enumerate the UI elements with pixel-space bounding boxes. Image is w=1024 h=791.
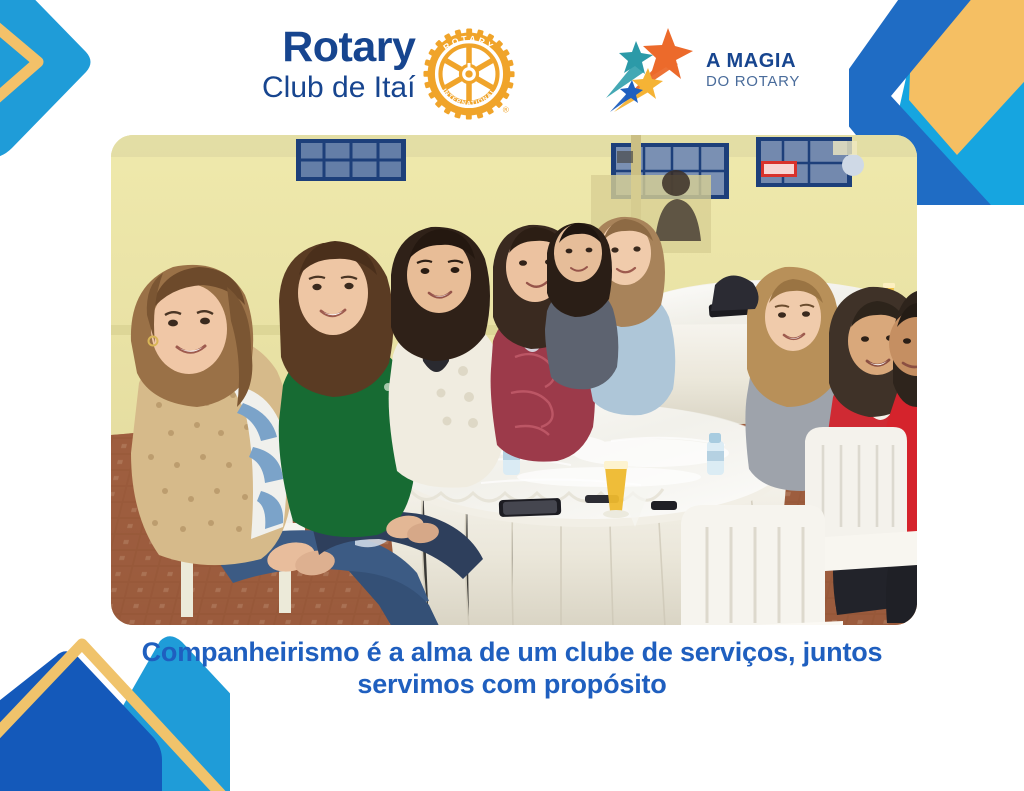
- wall-fixture: [617, 151, 633, 163]
- magia-subtitle: DO ROTARY: [706, 73, 800, 90]
- rotary-title: Rotary: [282, 26, 415, 70]
- wall-sign: [842, 154, 864, 176]
- slide-canvas: Rotary Club de Itaí: [0, 0, 1024, 791]
- window: [296, 139, 406, 181]
- caption-line-2: servimos com propósito: [62, 669, 962, 701]
- registered-mark: ®: [503, 106, 509, 115]
- rotary-wordmark: Rotary Club de Itaí: [262, 26, 415, 103]
- magia-do-rotary-logo: A MAGIA DO ROTARY: [592, 24, 800, 116]
- plastic-chair: [667, 505, 843, 625]
- header: Rotary Club de Itaí: [0, 0, 1024, 128]
- caption: Companheirismo é a alma de um clube de s…: [62, 637, 962, 701]
- rotary-club-logo: Rotary Club de Itaí: [262, 26, 515, 125]
- mobile-phone: [651, 501, 677, 510]
- magia-title: A MAGIA: [706, 50, 800, 72]
- person: [545, 223, 618, 389]
- shooting-stars-icon: [592, 24, 704, 116]
- magia-wordmark: A MAGIA DO ROTARY: [706, 50, 800, 90]
- caption-line-1: Companheirismo é a alma de um clube de s…: [62, 637, 962, 669]
- meeting-photo: [111, 135, 917, 625]
- rotary-wheel-icon: ROTARY INTERNATIONAL ®: [423, 28, 515, 125]
- meeting-photo-content: [111, 135, 917, 625]
- mobile-phone: [499, 498, 562, 517]
- rotary-club-name: Club de Itaí: [262, 72, 415, 104]
